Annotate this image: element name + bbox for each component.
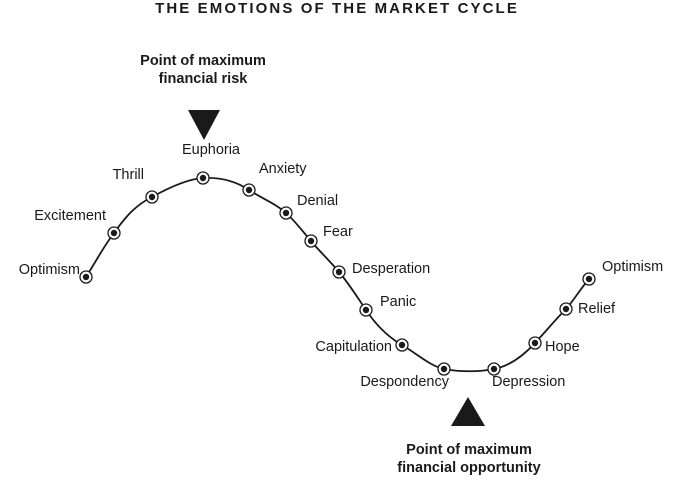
data-point-marker	[360, 304, 372, 316]
point-label-thrill-2: Thrill	[113, 167, 144, 183]
point-label-capitulation-9: Capitulation	[315, 339, 392, 355]
marker-core	[308, 238, 314, 244]
point-label-fear-6: Fear	[323, 224, 353, 240]
marker-core	[563, 306, 569, 312]
point-label-optimism-14: Optimism	[602, 259, 663, 275]
data-point-marker	[396, 339, 408, 351]
data-point-marker	[80, 271, 92, 283]
marker-core	[200, 175, 206, 181]
market-cycle-figure: THE EMOTIONS OF THE MARKET CYCLE Point o…	[0, 0, 674, 484]
point-label-optimism-0: Optimism	[19, 262, 80, 278]
data-point-marker	[560, 303, 572, 315]
marker-core	[363, 307, 369, 313]
marker-core	[149, 194, 155, 200]
marker-core	[83, 274, 89, 280]
point-label-desperation-7: Desperation	[352, 261, 430, 277]
marker-core	[336, 269, 342, 275]
point-label-depression-11: Depression	[492, 374, 565, 390]
point-label-hope-12: Hope	[545, 339, 580, 355]
up-triangle-icon	[451, 397, 485, 426]
marker-core	[532, 340, 538, 346]
data-point-marker	[197, 172, 209, 184]
marker-core	[246, 187, 252, 193]
marker-core	[586, 276, 592, 282]
data-point-marker	[243, 184, 255, 196]
down-triangle-icon	[188, 110, 220, 140]
marker-core	[283, 210, 289, 216]
point-label-denial-5: Denial	[297, 193, 338, 209]
point-label-euphoria-3: Euphoria	[182, 142, 240, 158]
marker-core	[491, 366, 497, 372]
data-point-marker	[305, 235, 317, 247]
data-point-marker	[146, 191, 158, 203]
point-label-excitement-1: Excitement	[34, 208, 106, 224]
point-label-anxiety-4: Anxiety	[259, 161, 307, 177]
marker-core	[111, 230, 117, 236]
marker-core	[399, 342, 405, 348]
market-cycle-curve-svg	[0, 0, 674, 484]
data-point-marker	[108, 227, 120, 239]
point-label-relief-13: Relief	[578, 301, 615, 317]
marker-core	[441, 366, 447, 372]
data-point-marker	[280, 207, 292, 219]
data-point-marker	[333, 266, 345, 278]
point-label-despondency-10: Despondency	[360, 374, 449, 390]
point-label-panic-8: Panic	[380, 294, 416, 310]
data-point-marker	[583, 273, 595, 285]
data-point-marker	[529, 337, 541, 349]
